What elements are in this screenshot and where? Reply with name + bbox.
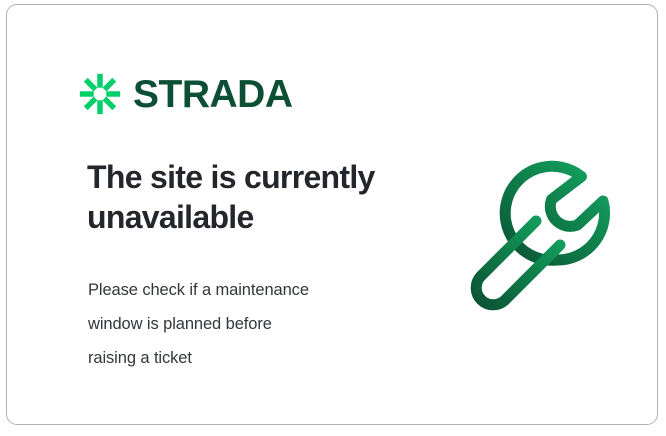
- page-description-line-3: raising a ticket: [88, 341, 398, 375]
- page-description-line-1: Please check if a maintenance: [88, 273, 398, 307]
- strada-asterisk-icon: [79, 73, 121, 115]
- page-title-line-1: The site is currently: [87, 159, 375, 195]
- page-title: The site is currently unavailable: [87, 157, 417, 237]
- page-description: Please check if a maintenance window is …: [88, 273, 398, 375]
- message-card: STRADA The site is currently unavailable…: [6, 4, 658, 425]
- brand-wordmark: STRADA: [133, 75, 293, 114]
- brand-lockup: STRADA: [79, 73, 293, 115]
- page-title-line-2: unavailable: [87, 197, 417, 237]
- page-description-line-2: window is planned before: [88, 307, 398, 341]
- error-page: STRADA The site is currently unavailable…: [0, 0, 666, 436]
- wrench-icon: [459, 155, 629, 325]
